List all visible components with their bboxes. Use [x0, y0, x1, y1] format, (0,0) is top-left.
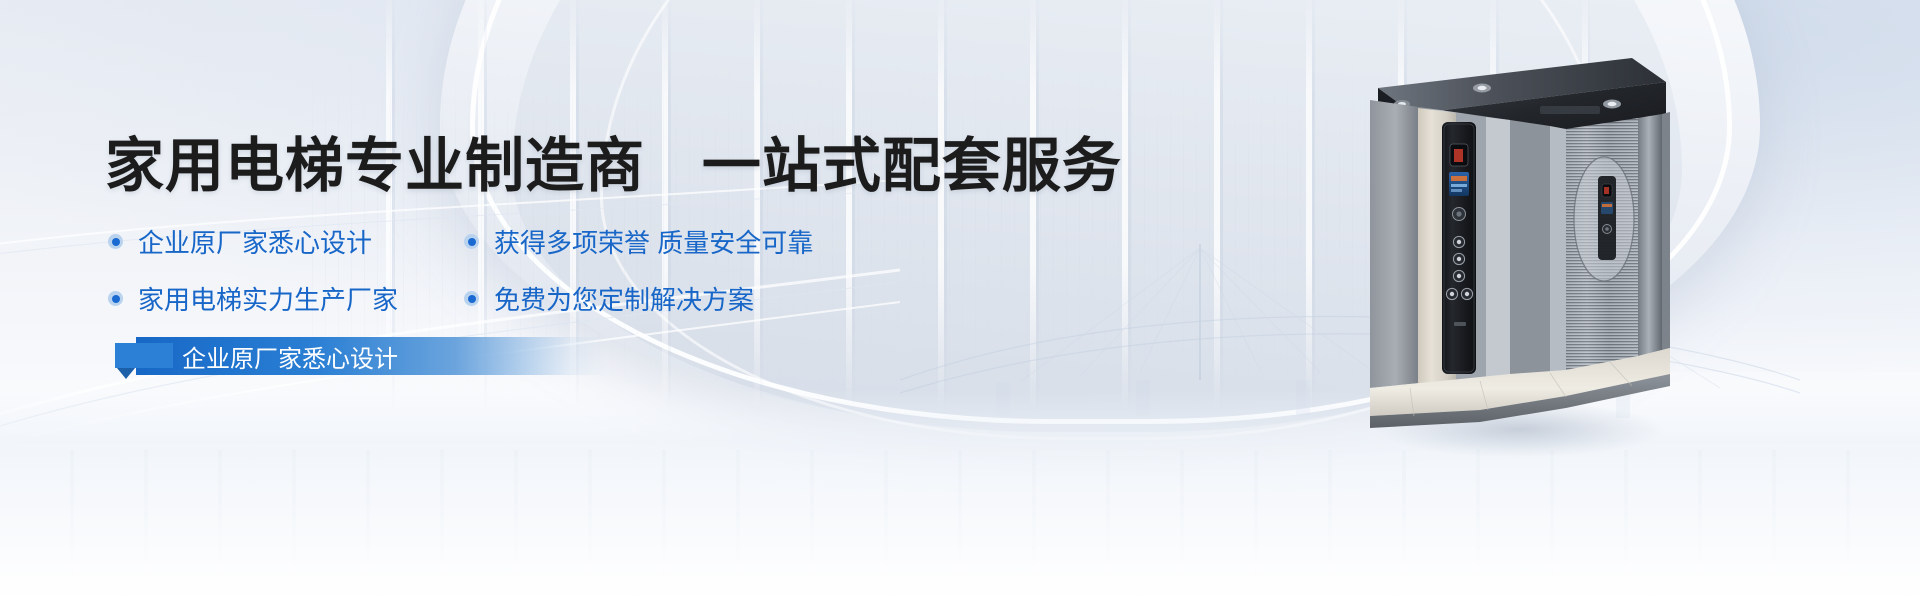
feature-bullet-row: 企业原厂家悉心设计 获得多项荣誉 质量安全可靠 [108, 213, 888, 270]
ribbon-tag: 企业原厂家悉心设计 [136, 337, 606, 375]
headline: 家用电梯专业制造商 一站式配套服务 [105, 118, 1122, 203]
bullet-dot-icon [464, 291, 479, 306]
feature-bullet-2: 获得多项荣誉 质量安全可靠 [464, 223, 813, 260]
feature-bullet-1-label: 企业原厂家悉心设计 [138, 223, 372, 260]
bullet-dot-icon [108, 234, 123, 249]
feature-bullet-list: 企业原厂家悉心设计 获得多项荣誉 质量安全可靠 家用电梯实力生产厂家 免费为您定… [108, 213, 888, 327]
promo-banner: 家用电梯专业制造商 一站式配套服务 企业原厂家悉心设计 获得多项荣誉 质量安全可… [0, 0, 1920, 600]
feature-bullet-1: 企业原厂家悉心设计 [108, 223, 464, 260]
ribbon-flag-icon [115, 343, 173, 368]
ribbon-label: 企业原厂家悉心设计 [182, 337, 398, 375]
feature-bullet-3: 家用电梯实力生产厂家 [108, 280, 464, 317]
feature-bullet-4: 免费为您定制解决方案 [464, 280, 754, 317]
feature-bullet-4-label: 免费为您定制解决方案 [494, 280, 754, 317]
headline-part-2: 一站式配套服务 [702, 133, 1122, 199]
elevator-cabin-image [1370, 44, 1670, 444]
headline-part-1: 家用电梯专业制造商 [105, 133, 645, 199]
bullet-dot-icon [108, 291, 123, 306]
feature-bullet-3-label: 家用电梯实力生产厂家 [138, 280, 398, 317]
bullet-dot-icon [464, 234, 479, 249]
feature-bullet-2-label: 获得多项荣誉 质量安全可靠 [494, 223, 813, 260]
feature-bullet-row: 家用电梯实力生产厂家 免费为您定制解决方案 [108, 270, 888, 327]
banner-content: 家用电梯专业制造商 一站式配套服务 企业原厂家悉心设计 获得多项荣誉 质量安全可… [0, 0, 1100, 600]
